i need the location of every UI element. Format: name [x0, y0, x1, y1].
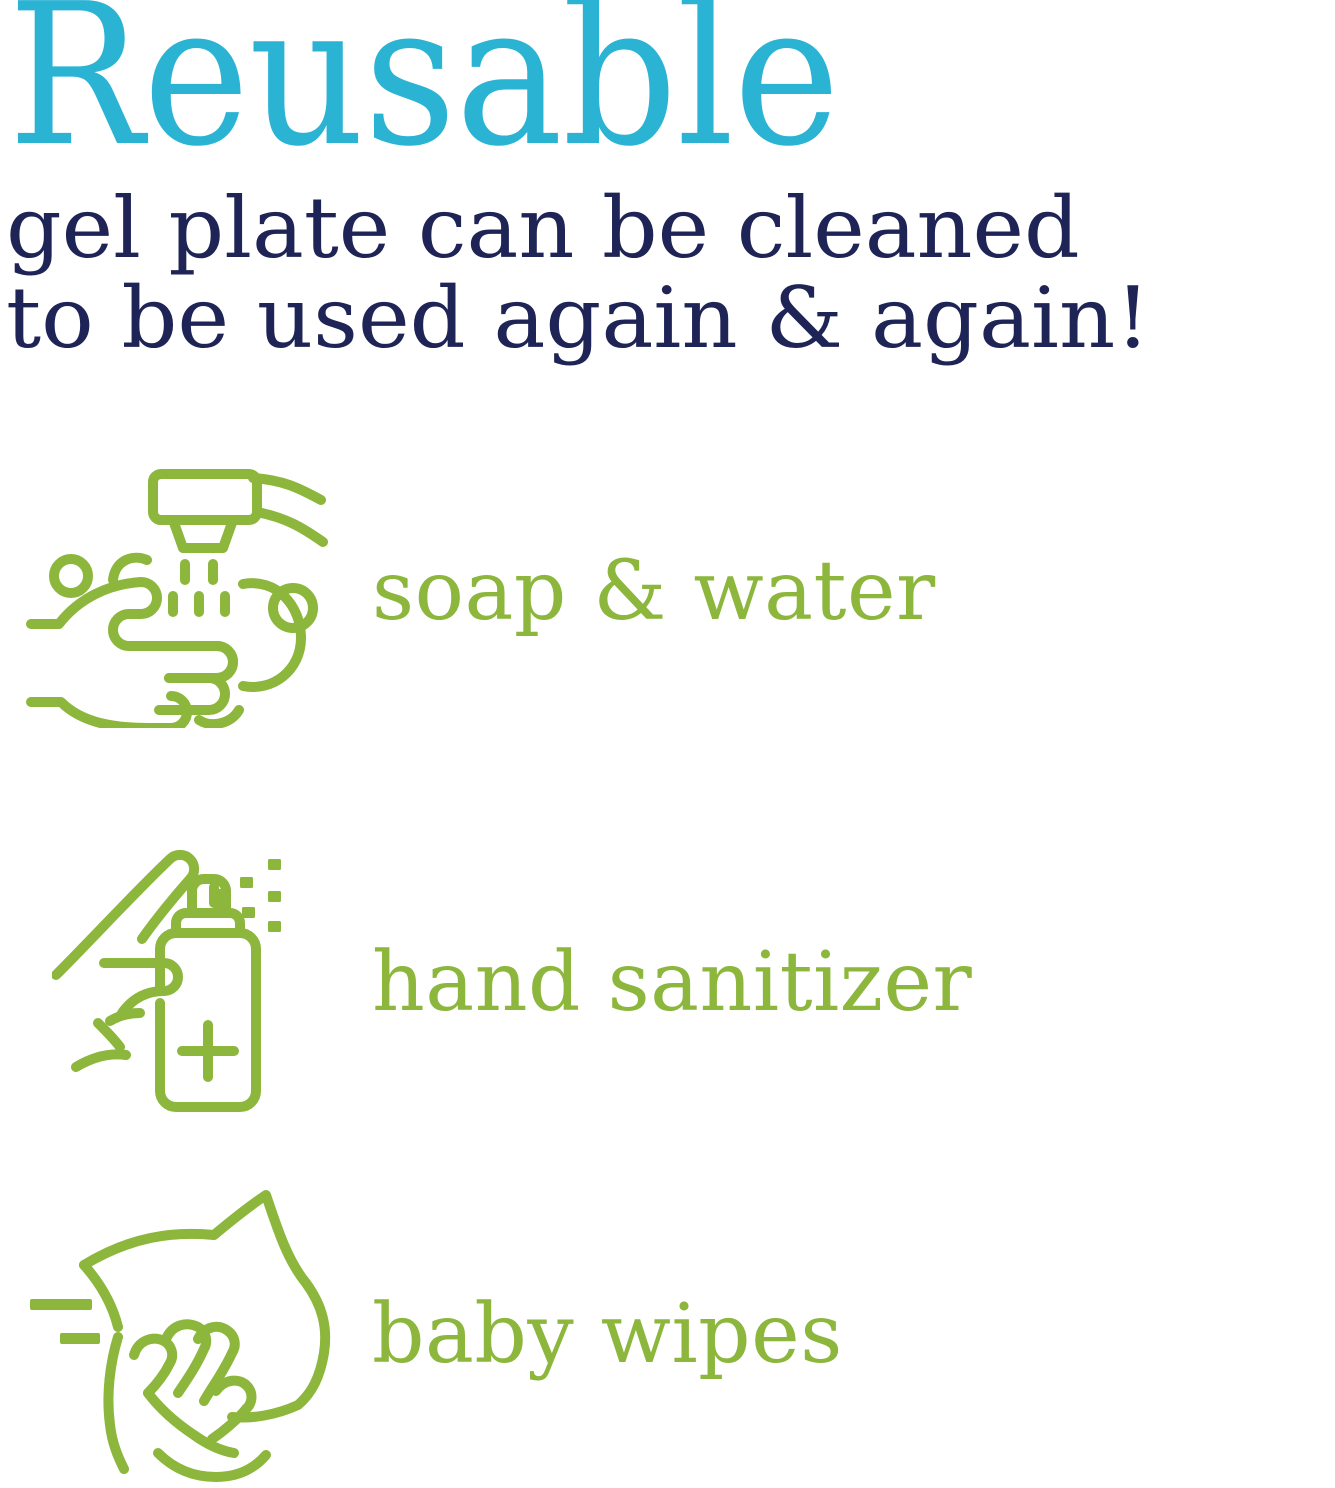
method-label-baby-wipes: baby wipes: [372, 1294, 843, 1376]
method-row-baby-wipes: baby wipes: [0, 1185, 1335, 1485]
poster-root: Reusable gel plate can be cleaned to be …: [0, 0, 1335, 1488]
label-cell-hand-sanitizer: hand sanitizer: [372, 942, 1335, 1024]
method-label-soap-water: soap & water: [372, 551, 936, 633]
label-cell-soap-water: soap & water: [372, 551, 1335, 633]
label-cell-baby-wipes: baby wipes: [372, 1294, 1335, 1376]
handwashing-faucet-icon: [21, 456, 351, 728]
method-row-soap-water: soap & water: [0, 452, 1335, 732]
subtitle-line-1: gel plate can be cleaned: [6, 186, 1080, 270]
hand-sanitizer-pump-bottle-icon: [52, 843, 320, 1123]
icon-cell-hand-sanitizer: [0, 838, 372, 1128]
icon-cell-baby-wipes: [0, 1185, 372, 1485]
method-row-hand-sanitizer: hand sanitizer: [0, 838, 1335, 1128]
method-label-hand-sanitizer: hand sanitizer: [372, 942, 972, 1024]
icon-cell-soap-water: [0, 452, 372, 732]
page-title: Reusable: [8, 0, 839, 174]
hand-wiping-cloth-icon: [26, 1187, 346, 1483]
subtitle-line-2: to be used again & again!: [6, 276, 1150, 360]
